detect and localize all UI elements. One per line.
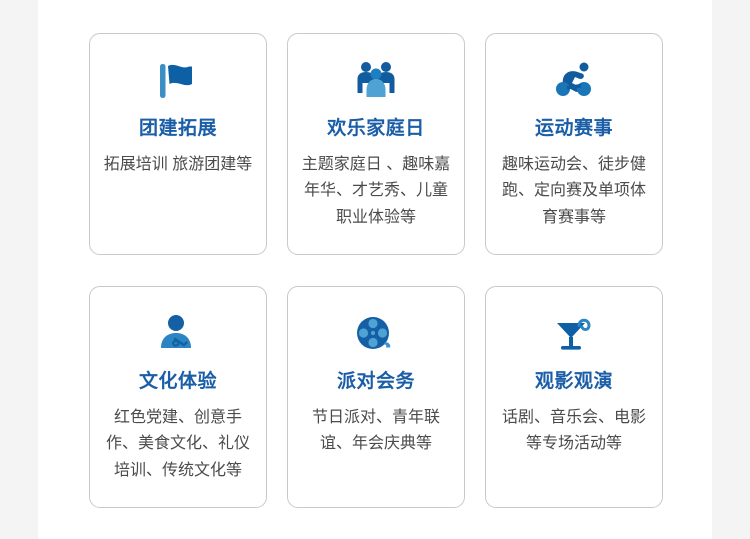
service-card-grid: 团建拓展 拓展培训 旅游团建等 欢乐家庭日 主题家庭日 、趣味嘉年华、才	[89, 33, 689, 508]
family-icon	[349, 56, 403, 106]
service-card-party-events[interactable]: 派对会务 节日派对、青年联谊、年会庆典等	[287, 286, 465, 508]
card-title: 观影观演	[535, 371, 613, 394]
page-root: 团建拓展 拓展培训 旅游团建等 欢乐家庭日 主题家庭日 、趣味嘉年华、才	[0, 0, 750, 539]
card-title: 派对会务	[337, 371, 415, 394]
card-title: 文化体验	[139, 371, 217, 394]
cocktail-icon	[547, 309, 601, 359]
service-card-culture-experience[interactable]: 文化体验 红色党建、创意手作、美食文化、礼仪培训、传统文化等	[89, 286, 267, 508]
content-area: 团建拓展 拓展培训 旅游团建等 欢乐家庭日 主题家庭日 、趣味嘉年华、才	[38, 0, 712, 539]
card-title: 团建拓展	[139, 118, 217, 141]
card-title: 运动赛事	[535, 118, 613, 141]
service-card-sports-events[interactable]: 运动赛事 趣味运动会、徒步健跑、定向赛及单项体育赛事等	[485, 33, 663, 255]
card-description: 红色党建、创意手作、美食文化、礼仪培训、传统文化等	[103, 405, 253, 484]
card-title: 欢乐家庭日	[327, 118, 425, 141]
flag-icon	[151, 56, 205, 106]
party-member-icon	[151, 309, 205, 359]
card-description: 趣味运动会、徒步健跑、定向赛及单项体育赛事等	[499, 152, 649, 231]
card-description: 话剧、音乐会、电影等专场活动等	[499, 405, 649, 458]
card-description: 拓展培训 旅游团建等	[103, 152, 253, 178]
film-reel-icon	[349, 309, 403, 359]
card-description: 主题家庭日 、趣味嘉年华、才艺秀、儿童职业体验等	[301, 152, 451, 231]
card-description: 节日派对、青年联谊、年会庆典等	[301, 405, 451, 458]
service-card-family-day[interactable]: 欢乐家庭日 主题家庭日 、趣味嘉年华、才艺秀、儿童职业体验等	[287, 33, 465, 255]
cyclist-icon	[547, 56, 601, 106]
service-card-team-building[interactable]: 团建拓展 拓展培训 旅游团建等	[89, 33, 267, 255]
service-card-shows-screenings[interactable]: 观影观演 话剧、音乐会、电影等专场活动等	[485, 286, 663, 508]
